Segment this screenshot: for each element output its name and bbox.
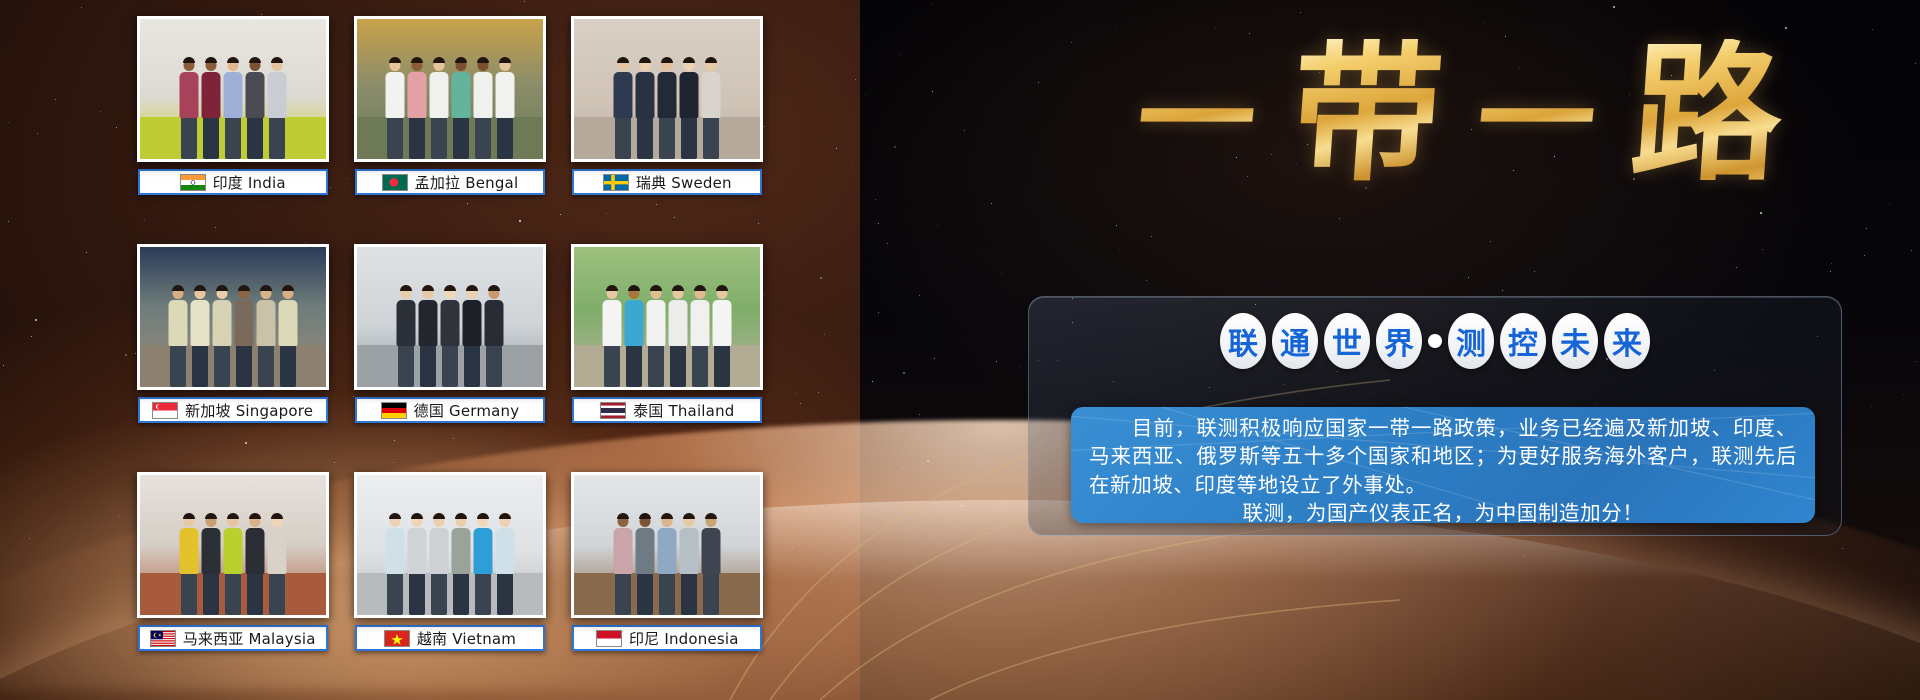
person-figure (451, 511, 471, 615)
country-label-text: 泰国 Thailand (633, 400, 734, 421)
flag-vietnam-icon (384, 630, 410, 647)
slogan-badge-6: 控 (1500, 313, 1546, 369)
country-label-bengal[interactable]: 孟加拉 Bengal (355, 169, 545, 195)
description-text: 目前，联测积极响应国家一带一路政策，业务已经遍及新加坡、印度、马来西亚、俄罗斯等… (1071, 407, 1815, 523)
person-figure (418, 283, 438, 387)
person-figure (407, 511, 427, 615)
flag-sweden-icon (603, 174, 629, 191)
photo-people (357, 511, 543, 615)
person-figure (385, 55, 405, 159)
grid-cell-indonesia[interactable]: 印尼 Indonesia (565, 472, 770, 688)
country-label-indonesia[interactable]: 印尼 Indonesia (572, 625, 762, 651)
info-panel: 联通世界测控未来 目前，联测积极响应国家一带一路政策，业务已经遍及新加坡、印度、… (1028, 296, 1842, 536)
slogan-badge-7: 未 (1552, 313, 1598, 369)
person-figure (635, 55, 655, 159)
headline-char-1: 带 (1287, 39, 1448, 189)
person-figure (613, 55, 633, 159)
person-figure (407, 55, 427, 159)
person-figure (462, 283, 482, 387)
grid-cell-germany[interactable]: 德国 Germany (347, 244, 552, 460)
flag-thailand-icon (600, 402, 626, 419)
person-figure (701, 55, 721, 159)
person-figure (267, 55, 287, 159)
person-figure (179, 511, 199, 615)
country-label-text: 印度 India (213, 172, 286, 193)
person-figure (245, 511, 265, 615)
country-label-vietnam[interactable]: 越南 Vietnam (355, 625, 545, 651)
country-label-germany[interactable]: 德国 Germany (355, 397, 545, 423)
person-figure (484, 283, 504, 387)
person-figure (635, 511, 655, 615)
slogan-badge-1: 通 (1272, 313, 1318, 369)
person-figure (267, 511, 287, 615)
photo-thailand[interactable] (571, 244, 763, 390)
person-figure (201, 511, 221, 615)
flag-indonesia-icon (596, 630, 622, 647)
country-label-text: 新加坡 Singapore (185, 400, 313, 421)
person-figure (701, 511, 721, 615)
country-label-singapore[interactable]: 新加坡 Singapore (138, 397, 328, 423)
person-figure (429, 55, 449, 159)
person-figure (473, 511, 493, 615)
photo-indonesia[interactable] (571, 472, 763, 618)
country-label-india[interactable]: 印度 India (138, 169, 328, 195)
photo-people (357, 283, 543, 387)
country-label-text: 德国 Germany (414, 400, 520, 421)
headline-char-2: 一 (1471, 61, 1601, 179)
grid-cell-vietnam[interactable]: 越南 Vietnam (347, 472, 552, 688)
country-label-thailand[interactable]: 泰国 Thailand (572, 397, 762, 423)
grid-cell-malaysia[interactable]: 马来西亚 Malaysia (130, 472, 335, 688)
flag-malaysia-icon (150, 630, 176, 647)
person-figure (624, 283, 644, 387)
person-figure (668, 283, 688, 387)
person-figure (473, 55, 493, 159)
person-figure (212, 283, 232, 387)
photo-germany[interactable] (354, 244, 546, 390)
person-figure (234, 283, 254, 387)
country-label-malaysia[interactable]: 马来西亚 Malaysia (138, 625, 328, 651)
photo-india[interactable] (137, 16, 329, 162)
photo-people (357, 55, 543, 159)
person-figure (712, 283, 732, 387)
person-figure (646, 283, 666, 387)
person-figure (396, 283, 416, 387)
photo-people (140, 511, 326, 615)
person-figure (278, 283, 298, 387)
person-figure (451, 55, 471, 159)
photo-vietnam[interactable] (354, 472, 546, 618)
description-closing: 联测，为国产仪表正名，为中国制造加分！ (1089, 499, 1797, 523)
flag-india-icon (180, 174, 206, 191)
photo-people (574, 511, 760, 615)
person-figure (385, 511, 405, 615)
country-label-text: 马来西亚 Malaysia (183, 628, 316, 649)
photo-malaysia[interactable] (137, 472, 329, 618)
flag-singapore-icon (152, 402, 178, 419)
country-photo-grid: 印度 India孟加拉 Bengal瑞典 Sweden新加坡 Singapore… (130, 16, 770, 688)
photo-bengal[interactable] (354, 16, 546, 162)
country-label-text: 越南 Vietnam (417, 628, 516, 649)
grid-cell-bengal[interactable]: 孟加拉 Bengal (347, 16, 552, 232)
slogan-badge-0: 联 (1220, 313, 1266, 369)
person-figure (223, 511, 243, 615)
person-figure (613, 511, 633, 615)
grid-cell-singapore[interactable]: 新加坡 Singapore (130, 244, 335, 460)
person-figure (256, 283, 276, 387)
photo-sweden[interactable] (571, 16, 763, 162)
person-figure (245, 55, 265, 159)
photo-singapore[interactable] (137, 244, 329, 390)
grid-cell-india[interactable]: 印度 India (130, 16, 335, 232)
person-figure (679, 511, 699, 615)
person-figure (657, 55, 677, 159)
person-figure (690, 283, 710, 387)
person-figure (657, 511, 677, 615)
slogan-separator-dot (1428, 334, 1442, 348)
slogan-badge-8: 来 (1604, 313, 1650, 369)
person-figure (429, 511, 449, 615)
headline-char-3: 路 (1627, 39, 1788, 189)
description-paragraph: 目前，联测积极响应国家一带一路政策，业务已经遍及新加坡、印度、马来西亚、俄罗斯等… (1089, 416, 1797, 497)
grid-cell-sweden[interactable]: 瑞典 Sweden (565, 16, 770, 232)
grid-cell-thailand[interactable]: 泰国 Thailand (565, 244, 770, 460)
photo-people (574, 283, 760, 387)
photo-people (140, 283, 326, 387)
slogan-badges: 联通世界测控未来 (1029, 311, 1841, 371)
photo-people (574, 55, 760, 159)
person-figure (168, 283, 188, 387)
headline-belt-and-road: 一带一路 (1010, 6, 1910, 221)
person-figure (679, 55, 699, 159)
person-figure (201, 55, 221, 159)
person-figure (495, 55, 515, 159)
country-label-text: 印尼 Indonesia (629, 628, 739, 649)
person-figure (440, 283, 460, 387)
slogan-badge-2: 世 (1324, 313, 1370, 369)
country-label-text: 瑞典 Sweden (636, 172, 732, 193)
flag-germany-icon (381, 402, 407, 419)
slogan-badge-5: 测 (1448, 313, 1494, 369)
description-box: 目前，联测积极响应国家一带一路政策，业务已经遍及新加坡、印度、马来西亚、俄罗斯等… (1071, 407, 1815, 523)
person-figure (223, 55, 243, 159)
country-label-text: 孟加拉 Bengal (415, 172, 519, 193)
slogan-badge-3: 界 (1376, 313, 1422, 369)
person-figure (602, 283, 622, 387)
headline-char-0: 一 (1131, 61, 1261, 179)
flag-bangladesh-icon (382, 174, 408, 191)
country-label-sweden[interactable]: 瑞典 Sweden (572, 169, 762, 195)
person-figure (179, 55, 199, 159)
person-figure (190, 283, 210, 387)
person-figure (495, 511, 515, 615)
photo-people (140, 55, 326, 159)
